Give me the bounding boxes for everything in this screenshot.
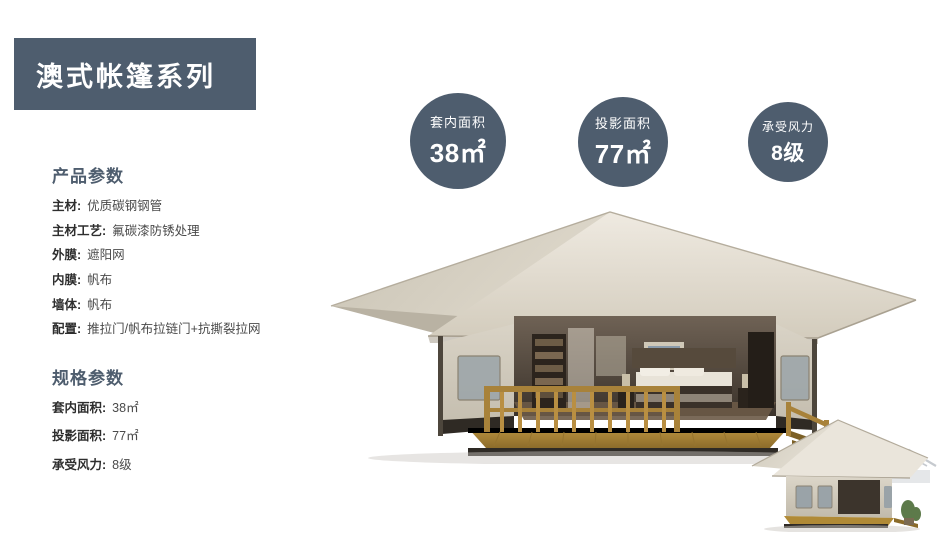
spec-value: 8级 [112,458,131,474]
spec-key: 墙体: [52,298,81,314]
spec-row: 内膜: 帆布 [52,273,352,289]
spec-row: 外膜: 遮阳网 [52,248,352,264]
spec-row: 投影面积: 77㎡ [52,429,352,445]
spec-key: 配置: [52,322,81,338]
spec-key: 外膜: [52,248,81,264]
product-parameters-section: 产品参数 主材: 优质碳钢钢管 主材工艺: 氟碳漆防锈处理 外膜: 遮阳网 内膜… [52,162,352,338]
stat-value: 8级 [771,137,805,167]
stat-badge-projected-area: 投影面积 77㎡ [578,97,668,187]
stat-badge-interior-area: 套内面积 38㎡ [410,93,506,189]
spec-value: 帆布 [87,273,112,289]
stat-value: 38㎡ [430,133,486,170]
spec-value: 遮阳网 [87,248,125,264]
spec-row: 主材工艺: 氟碳漆防锈处理 [52,224,352,240]
stat-value: 77㎡ [595,134,651,171]
spec-row: 配置: 推拉门/帆布拉链门+抗撕裂拉网 [52,322,352,338]
spec-value: 38㎡ [112,401,138,417]
spec-key: 承受风力: [52,458,106,474]
spec-value: 推拉门/帆布拉链门+抗撕裂拉网 [87,322,260,338]
page-title: 澳式帐篷系列 [36,55,216,94]
stat-label: 承受风力 [762,118,814,135]
section-heading-size: 规格参数 [52,364,352,389]
size-parameters-section: 规格参数 套内面积: 38㎡ 投影面积: 77㎡ 承受风力: 8级 [52,364,352,474]
spec-value: 优质碳钢钢管 [87,199,162,215]
page-title-banner: 澳式帐篷系列 [14,38,256,110]
spec-key: 套内面积: [52,401,106,417]
spec-value: 77㎡ [112,429,138,445]
spec-key: 投影面积: [52,429,106,445]
spec-value: 帆布 [87,298,112,314]
spec-value: 氟碳漆防锈处理 [112,224,200,240]
spec-panel: 产品参数 主材: 优质碳钢钢管 主材工艺: 氟碳漆防锈处理 外膜: 遮阳网 内膜… [52,162,352,487]
spec-row: 墙体: 帆布 [52,298,352,314]
section-heading-product: 产品参数 [52,162,352,187]
stat-label: 投影面积 [595,113,651,132]
stat-badge-wind-resistance: 承受风力 8级 [748,102,828,182]
spec-key: 主材工艺: [52,224,106,240]
spec-key: 主材: [52,199,81,215]
spec-key: 内膜: [52,273,81,289]
spec-row: 主材: 优质碳钢钢管 [52,199,352,215]
spec-row: 承受风力: 8级 [52,458,352,474]
spec-row: 套内面积: 38㎡ [52,401,352,417]
stat-label: 套内面积 [430,112,486,131]
tent-secondary-illustration [742,414,942,532]
